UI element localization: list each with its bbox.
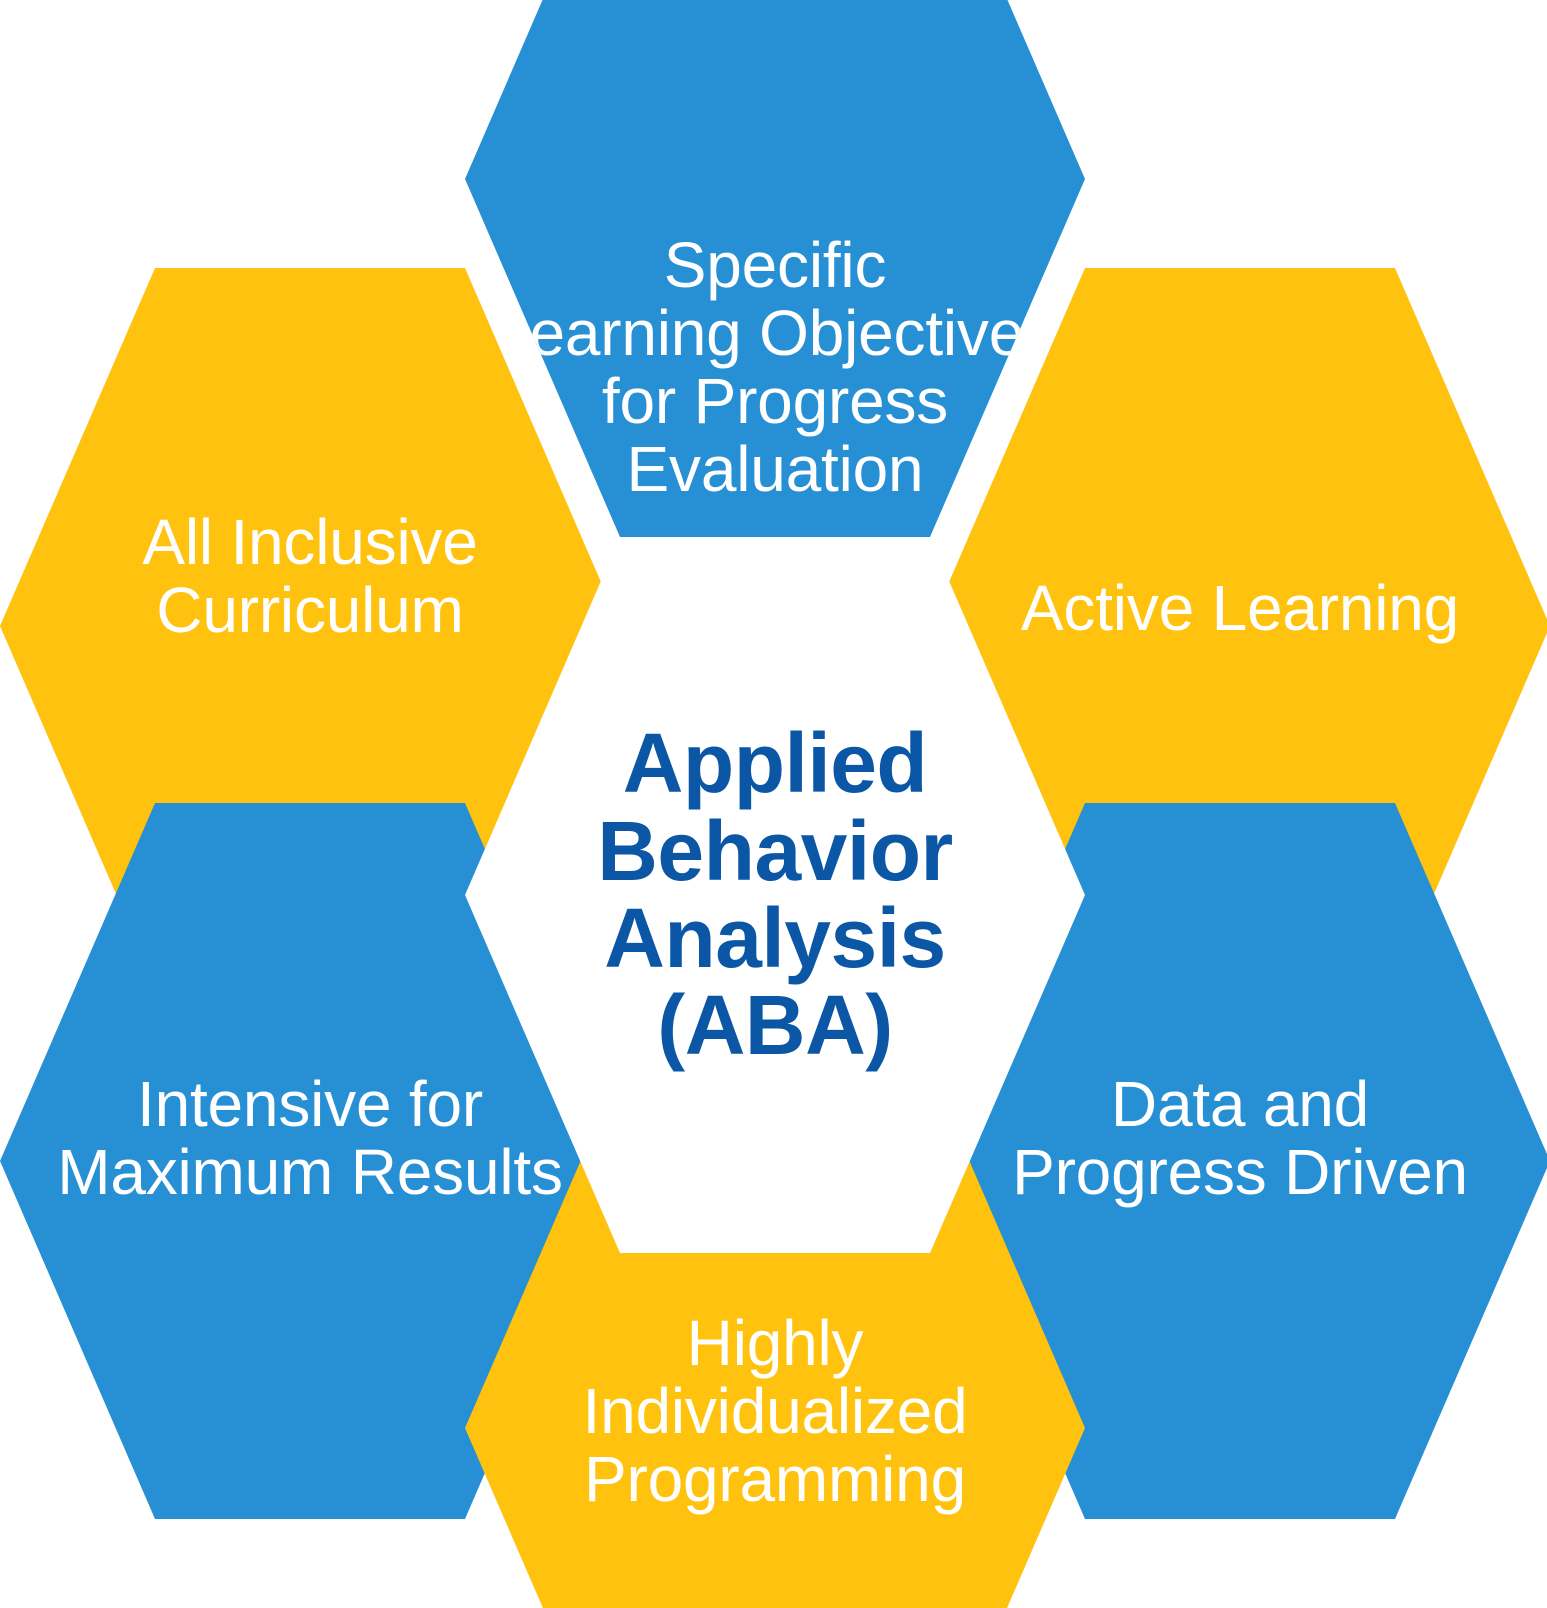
hex-label-center: Applied Behavior Analysis (ABA) [597,720,952,1069]
hex-label-lower-left: Intensive for Maximum Results [0,1071,620,1207]
hex-cell-top[interactable]: Specific Learning Objectives for Progres… [465,0,1085,537]
hex-label-upper-right: Active Learning [930,575,1547,643]
hex-label-bottom: Highly Individualized Programming [465,1310,1085,1513]
hex-label-top: Specific Learning Objectives for Progres… [465,232,1085,503]
hex-label-upper-left: All Inclusive Curriculum [0,509,620,645]
hex-label-lower-right: Data and Progress Driven [930,1071,1547,1207]
hexagon-diagram: Specific Learning Objectives for Progres… [0,0,1547,1608]
